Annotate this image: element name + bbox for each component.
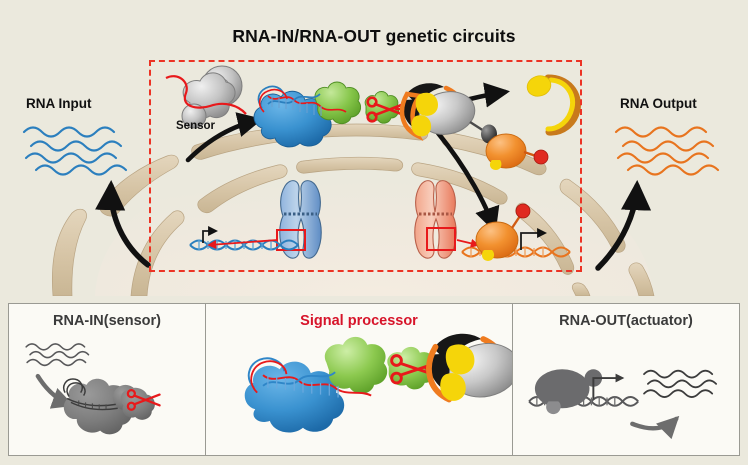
- rna-input-label: RNA Input: [26, 96, 91, 111]
- panel-rna-out-artwork: [513, 304, 739, 455]
- panel-signal-processor: Signal processor: [206, 303, 513, 456]
- scene-panel: RNA-IN/RNA-OUT genetic circuits RNA Inpu…: [0, 0, 748, 296]
- curved-arrow: [632, 419, 676, 428]
- circuit-boundary-box: [149, 60, 582, 272]
- gray-actuator-blob: [535, 369, 590, 408]
- rna-output-label: RNA Output: [620, 96, 697, 111]
- rna-input-strands: [24, 128, 126, 175]
- panel-rna-in-sensor: RNA-IN(sensor): [8, 303, 206, 456]
- curved-arrow: [38, 376, 70, 404]
- panel-signal-processor-artwork: [206, 304, 512, 455]
- figure-root: RNA-IN/RNA-OUT genetic circuits RNA Inpu…: [0, 0, 748, 465]
- panel-rna-in-artwork: [9, 304, 205, 455]
- bottom-panels: RNA-IN(sensor): [0, 296, 748, 465]
- gray-rna-waves: [644, 371, 716, 397]
- sensor-label: Sensor: [176, 120, 215, 132]
- gray-rna-waves: [26, 344, 88, 365]
- rna-output-strands: [616, 128, 718, 175]
- panel-rna-out-actuator: RNA-OUT(actuator): [513, 303, 740, 456]
- page-title: RNA-IN/RNA-OUT genetic circuits: [0, 26, 748, 47]
